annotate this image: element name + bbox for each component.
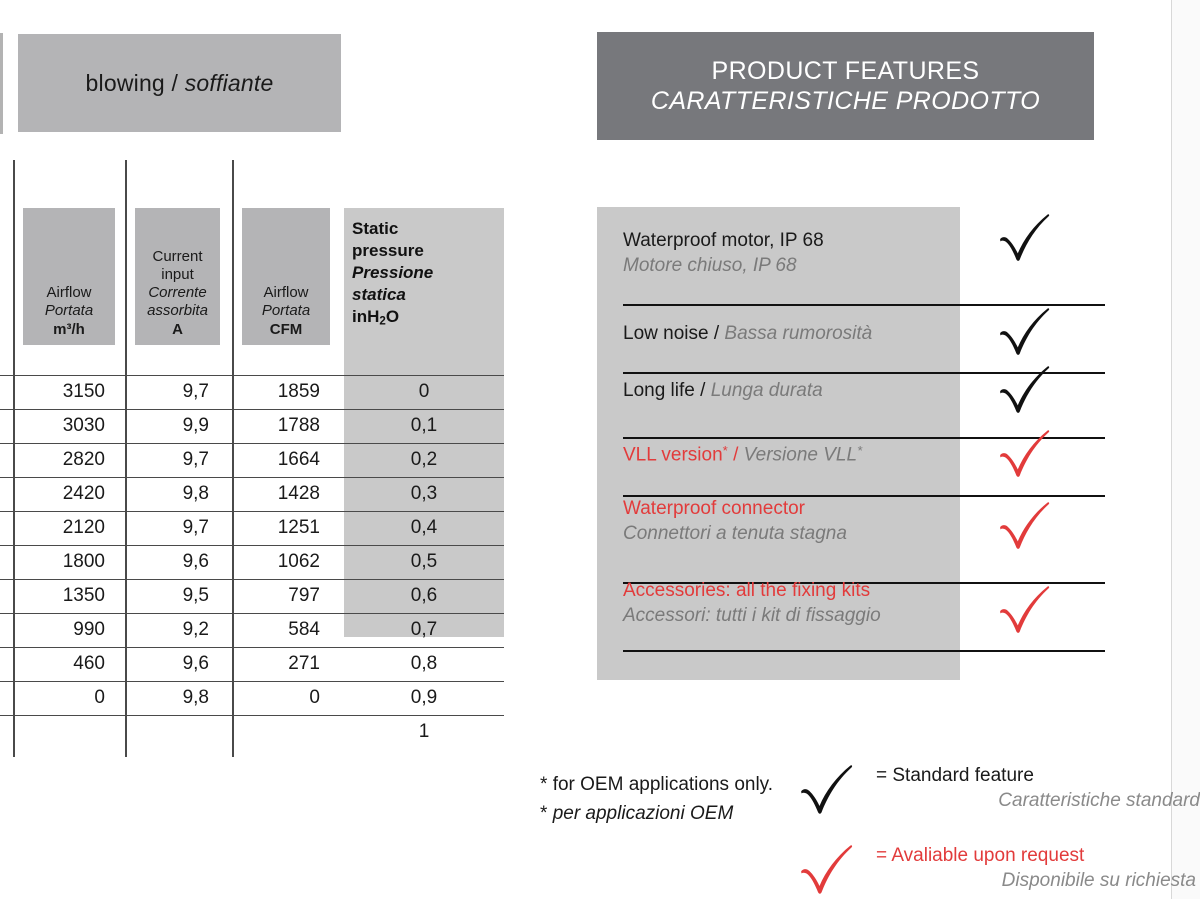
feature-label-en: Long life / Lunga durata [623, 379, 953, 404]
oem-footnote: * per applicazioni OEM [540, 799, 770, 828]
footnote-asterisk: * [540, 803, 553, 824]
table-row: 1 [0, 715, 520, 749]
feature-en-text: VLL version [623, 445, 723, 466]
table-header-airflow-cfm: Airflow Portata CFM [242, 208, 330, 345]
check-red-icon [997, 429, 1067, 489]
check-black-icon [798, 764, 864, 822]
feature-en-text: Waterproof connector [623, 498, 805, 519]
cell-airflow-m3h: 2820 [13, 443, 115, 477]
check-black-icon [997, 365, 1067, 425]
feature-label-en: Waterproof motor, IP 68 [623, 229, 953, 254]
header-static-en-2: pressure [352, 240, 504, 262]
header-current-en-2: input [161, 266, 194, 284]
header-airflow-en-2: Airflow [263, 284, 308, 302]
oem-footnote: * for OEM applications only. [540, 770, 770, 799]
feature-label-en: Low noise / Bassa rumorosità [623, 322, 953, 347]
cell-current-a: 9,7 [125, 375, 221, 409]
cell-airflow-cfm: 797 [232, 579, 332, 613]
header-unit-a: A [172, 321, 183, 339]
legend-key-en: = Avaliable upon request [876, 844, 1200, 869]
cell-airflow-cfm: 1251 [232, 511, 332, 545]
header-portata-it-2: Portata [262, 302, 310, 320]
blowing-label-en: blowing [86, 70, 165, 96]
cell-airflow-cfm: 1062 [232, 545, 332, 579]
cell-airflow-m3h: 0 [13, 681, 115, 715]
table-row: 28209,716640,2 [0, 443, 520, 477]
table-row: 13509,57970,6 [0, 579, 520, 613]
blowing-section-header: blowing / soffiante [18, 34, 341, 132]
cell-airflow-m3h: 3150 [13, 375, 115, 409]
footnote-asterisk: * [540, 774, 553, 795]
check-black-icon [997, 307, 1067, 367]
table-row: 30309,917880,1 [0, 409, 520, 443]
header-pressione-it-1: Pressione [352, 262, 504, 284]
header-corrente-it-2: assorbita [147, 302, 208, 320]
footnote-text: per applicazioni OEM [553, 803, 734, 824]
header-unit-cfm: CFM [270, 321, 303, 339]
product-features-header: PRODUCT FEATURES CARATTERISTICHE PRODOTT… [597, 32, 1094, 140]
cell-current-a: 9,8 [125, 681, 221, 715]
cell-airflow-cfm: 584 [232, 613, 332, 647]
footnote-text: for OEM applications only. [553, 774, 773, 795]
check-red-icon [997, 501, 1067, 561]
cell-static-pressure: 0,3 [344, 477, 504, 511]
feature-label-en: VLL version* / Versione VLL* [623, 442, 953, 468]
cell-airflow-cfm: 1428 [232, 477, 332, 511]
table-body: 31509,71859030309,917880,128209,716640,2… [0, 375, 520, 749]
cell-current-a: 9,9 [125, 409, 221, 443]
cell-airflow-m3h: 2420 [13, 477, 115, 511]
performance-table: Airflow Portata m³/h Current input Corre… [0, 160, 520, 760]
legend-key-it: Caratteristiche standard [876, 789, 1200, 814]
feature-label-en: Waterproof connector [623, 497, 953, 522]
feature-it-text: Versione VLL [744, 445, 857, 466]
cell-airflow-cfm [232, 715, 332, 749]
cell-static-pressure: 0,9 [344, 681, 504, 715]
feature-en-text: Low noise [623, 323, 709, 344]
table-row: 31509,718590 [0, 375, 520, 409]
table-row: 4609,62710,8 [0, 647, 520, 681]
feature-separator-rule [623, 304, 1105, 306]
header-corrente-it-1: Corrente [148, 284, 206, 302]
table-header-airflow-m3h: Airflow Portata m³/h [23, 208, 115, 345]
feature-separator: / [695, 380, 711, 401]
table-row: 24209,814280,3 [0, 477, 520, 511]
blowing-separator: / [165, 70, 185, 96]
legend-key-text: = Avaliable upon requestDisponibile su r… [876, 844, 1200, 893]
feature-text: Low noise / Bassa rumorosità [623, 322, 953, 347]
header-current-en-1: Current [152, 248, 202, 266]
header-static-en-1: Static [352, 218, 504, 240]
cell-airflow-cfm: 1664 [232, 443, 332, 477]
cell-current-a: 9,7 [125, 443, 221, 477]
features-list: Waterproof motor, IP 68Motore chiuso, IP… [597, 207, 1107, 680]
cell-airflow-cfm: 271 [232, 647, 332, 681]
cell-static-pressure: 0,2 [344, 443, 504, 477]
cell-airflow-m3h: 990 [13, 613, 115, 647]
blowing-section-title: blowing / soffiante [86, 70, 274, 97]
feature-separator-rule [623, 650, 1105, 652]
cell-airflow-m3h: 1350 [13, 579, 115, 613]
check-red-icon [997, 585, 1067, 645]
feature-en-text: Long life [623, 380, 695, 401]
product-features-title-it: CARATTERISTICHE PRODOTTO [651, 86, 1040, 117]
cell-static-pressure: 0 [344, 375, 504, 409]
cell-current-a: 9,6 [125, 647, 221, 681]
feature-label-it: Motore chiuso, IP 68 [623, 254, 953, 279]
feature-text: Accessories: all the fixing kitsAccessor… [623, 579, 953, 628]
cell-airflow-cfm: 1788 [232, 409, 332, 443]
feature-text: Waterproof connectorConnettori a tenuta … [623, 497, 953, 546]
feature-it-text: Lunga durata [711, 380, 823, 401]
cell-static-pressure: 0,5 [344, 545, 504, 579]
feature-text: VLL version* / Versione VLL* [623, 442, 953, 468]
header-inh2o-pre: inH [352, 307, 379, 326]
cell-airflow-m3h [13, 715, 115, 749]
cell-current-a: 9,2 [125, 613, 221, 647]
feature-separator: / [709, 323, 725, 344]
header-unit-m3h: m³/h [53, 321, 85, 339]
cell-static-pressure: 0,4 [344, 511, 504, 545]
cell-current-a [125, 715, 221, 749]
check-black-icon [997, 213, 1067, 273]
cell-current-a: 9,7 [125, 511, 221, 545]
cell-static-pressure: 0,1 [344, 409, 504, 443]
cell-airflow-m3h: 3030 [13, 409, 115, 443]
feature-label-it: Accessori: tutti i kit di fissaggio [623, 604, 953, 629]
feature-it-text: Bassa rumorosità [724, 323, 872, 344]
datasheet-page: blowing / soffiante Airflow Portata m³/h… [0, 0, 1200, 899]
cell-airflow-cfm: 1859 [232, 375, 332, 409]
legend-key-it: Disponibile su richiesta [876, 869, 1200, 894]
table-header-static-pressure: Static pressure Pressione statica inH2O [352, 208, 504, 345]
oem-footnotes: * for OEM applications only.* per applic… [540, 770, 770, 829]
feature-separator: / [728, 445, 744, 466]
cell-airflow-m3h: 460 [13, 647, 115, 681]
product-features-title-en: PRODUCT FEATURES [712, 56, 980, 87]
table-row: 18009,610620,5 [0, 545, 520, 579]
legend-key-en: = Standard feature [876, 764, 1200, 789]
header-inh2o-post: O [386, 307, 399, 326]
cell-airflow-cfm: 0 [232, 681, 332, 715]
feature-text: Long life / Lunga durata [623, 379, 953, 404]
cell-static-pressure: 0,6 [344, 579, 504, 613]
feature-en-text: Accessories: all the fixing kits [623, 580, 870, 601]
header-pressione-it-2: statica [352, 284, 504, 306]
check-red-icon [798, 844, 864, 902]
header-unit-inh2o: inH2O [352, 306, 504, 330]
left-edge-stub [0, 33, 3, 134]
feature-label-it: Connettori a tenuta stagna [623, 522, 953, 547]
legend-key-text: = Standard featureCaratteristiche standa… [876, 764, 1200, 813]
feature-en-text: Waterproof motor, IP 68 [623, 230, 824, 251]
table-row: 21209,712510,4 [0, 511, 520, 545]
feature-label-en: Accessories: all the fixing kits [623, 579, 953, 604]
feature-it-asterisk: * [857, 443, 862, 458]
cell-airflow-m3h: 2120 [13, 511, 115, 545]
table-row: 9909,25840,7 [0, 613, 520, 647]
feature-text: Waterproof motor, IP 68Motore chiuso, IP… [623, 229, 953, 278]
cell-static-pressure: 1 [344, 715, 504, 749]
cell-current-a: 9,8 [125, 477, 221, 511]
cell-airflow-m3h: 1800 [13, 545, 115, 579]
legend: * for OEM applications only.* per applic… [540, 762, 1140, 897]
cell-static-pressure: 0,7 [344, 613, 504, 647]
cell-current-a: 9,6 [125, 545, 221, 579]
header-airflow-en: Airflow [46, 284, 91, 302]
header-portata-it: Portata [45, 302, 93, 320]
blowing-label-it: soffiante [185, 70, 274, 96]
table-row: 09,800,9 [0, 681, 520, 715]
cell-current-a: 9,5 [125, 579, 221, 613]
cell-static-pressure: 0,8 [344, 647, 504, 681]
table-header-current-input: Current input Corrente assorbita A [135, 208, 220, 345]
